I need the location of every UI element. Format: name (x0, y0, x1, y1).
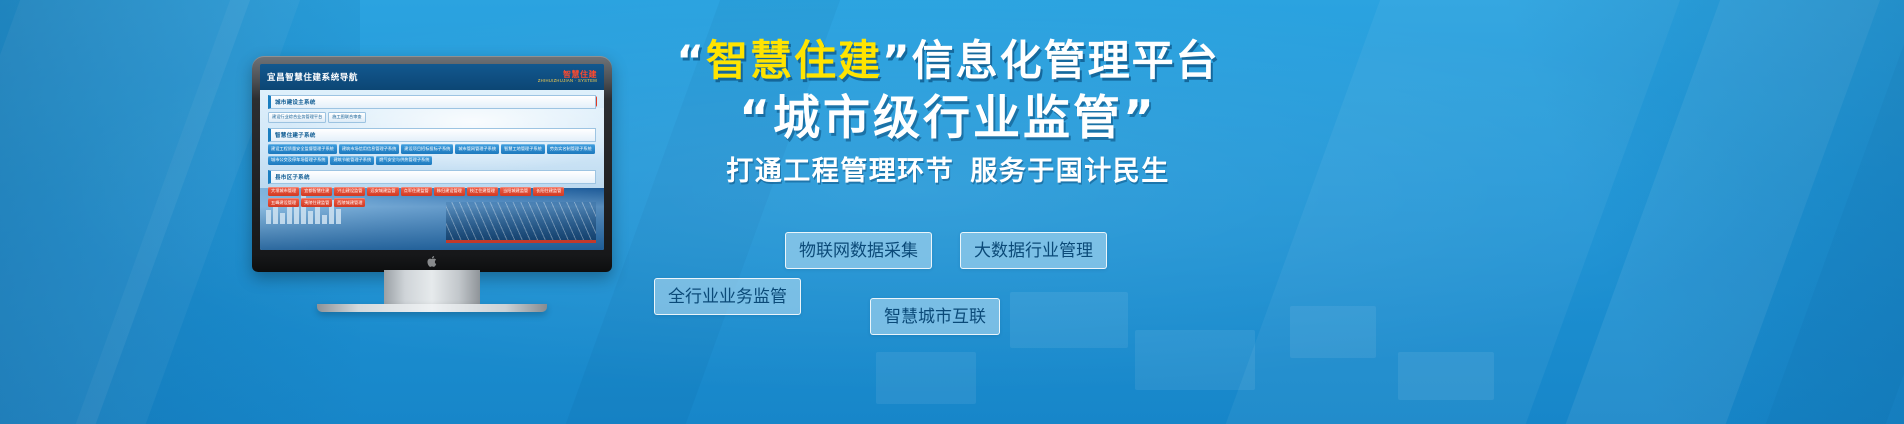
decorative-block (1290, 306, 1376, 358)
nav-chip[interactable]: 建筑市场信用信息管理子系统 (339, 144, 399, 153)
tag-bigdata-industry-management[interactable]: 大数据行业管理 (960, 232, 1107, 269)
monitor-chin (252, 250, 612, 272)
nav-chip[interactable]: 远安城建监管 (367, 187, 398, 196)
section-chip-list: 建设行业综合业务管理平台 施工图联合审查 (268, 112, 596, 123)
nav-chip[interactable]: 智慧工地管理子系统 (501, 144, 545, 153)
headline-line-1-rest: 信息化管理平台 (912, 36, 1220, 85)
tag-iot-data-collection[interactable]: 物联网数据采集 (785, 232, 932, 269)
monitor-stand-base (317, 304, 547, 312)
monitor-screen: 宜昌智慧住建系统导航 智慧住建 ZHIHUIZHUJIAN · SYSTEM (260, 64, 604, 250)
nav-chip[interactable]: 大坝城市管理 (268, 187, 299, 196)
nav-chip[interactable]: 西陵城建管理 (334, 198, 365, 207)
nav-chip[interactable]: 建设项目招标投标子系统 (401, 144, 453, 153)
monitor-bezel: 宜昌智慧住建系统导航 智慧住建 ZHIHUIZHUJIAN · SYSTEM (252, 56, 612, 272)
screen-section: 智慧住建子系统 建设工程质量安全监督管理子系统 建筑市场信用信息管理子系统 建设… (268, 128, 596, 165)
screen-section: 县市区子系统 大坝城市管理 宜都智慧住建 兴山建设监管 远安城建监管 点军住建监… (268, 170, 596, 207)
monitor-stand-neck (384, 270, 480, 306)
decorative-block (1398, 352, 1494, 400)
screen-body: 资料下载 城市建设主系统 建设行业综合业务管理平台 施工图联合审查 智慧住建子系… (260, 90, 604, 250)
screen-title: 宜昌智慧住建系统导航 (267, 71, 358, 83)
nav-chip[interactable]: 秭归建设管理 (434, 187, 465, 196)
apple-logo-icon (427, 255, 438, 268)
bridge-deck (446, 240, 596, 243)
decorative-block (876, 352, 976, 404)
nav-chip[interactable]: 城市管网管理子系统 (455, 144, 499, 153)
nav-chip[interactable]: 长阳住建监管 (533, 187, 564, 196)
nav-chip[interactable]: 城市公交及停车场管理子系统 (268, 156, 328, 165)
screen-logo-secondary: ZHIHUIZHUJIAN · SYSTEM (538, 79, 597, 83)
screen-header: 宜昌智慧住建系统导航 智慧住建 ZHIHUIZHUJIAN · SYSTEM (260, 64, 604, 90)
bridge-graphic (446, 202, 596, 242)
headline-line-2: “城市级行业监管” (648, 95, 1248, 142)
promo-banner: 宜昌智慧住建系统导航 智慧住建 ZHIHUIZHUJIAN · SYSTEM (0, 0, 1904, 424)
section-chip-list: 建设工程质量安全监督管理子系统 建筑市场信用信息管理子系统 建设项目招标投标子系… (268, 144, 596, 165)
section-heading: 县市区子系统 (268, 170, 596, 184)
imac-monitor-mockup: 宜昌智慧住建系统导航 智慧住建 ZHIHUIZHUJIAN · SYSTEM (252, 56, 612, 308)
screen-section: 城市建设主系统 建设行业综合业务管理平台 施工图联合审查 (268, 95, 596, 123)
feature-tag-group: 物联网数据采集 大数据行业管理 全行业业务监管 智慧城市互联 (640, 232, 1200, 352)
nav-chip[interactable]: 兴山建设监管 (334, 187, 365, 196)
nav-chip[interactable]: 夷陵住建监管 (301, 198, 332, 207)
nav-chip[interactable]: 建设行业综合业务管理平台 (268, 112, 326, 123)
tagline-part-1: 打通工程管理环节 (726, 156, 954, 187)
nav-chip[interactable]: 施工图联合审查 (328, 112, 365, 123)
headline-copy: “智慧住建”信息化管理平台 “城市级行业监管” 打通工程管理环节服务于国计民生 (648, 40, 1248, 185)
screen-logo: 智慧住建 ZHIHUIZHUJIAN · SYSTEM (538, 71, 597, 84)
nav-chip[interactable]: 点军住建监管 (401, 187, 432, 196)
section-chip-list: 大坝城市管理 宜都智慧住建 兴山建设监管 远安城建监管 点军住建监管 秭归建设管… (268, 187, 596, 208)
nav-chip[interactable]: 劳务实名制管理子系统 (547, 144, 595, 153)
nav-chip[interactable]: 燃气安全与供热管理子系统 (376, 156, 432, 165)
tag-smart-city-interconnect[interactable]: 智慧城市互联 (870, 298, 1000, 335)
headline-tagline: 打通工程管理环节服务于国计民生 (648, 158, 1248, 185)
section-heading: 智慧住建子系统 (268, 128, 596, 142)
tagline-part-2: 服务于国计民生 (970, 156, 1170, 187)
headline-quote-close: ” (882, 36, 912, 85)
headline-highlight: 智慧住建 (706, 36, 882, 85)
nav-chip[interactable]: 建筑节能管理子系统 (330, 156, 374, 165)
nav-chip[interactable]: 五峰建设管理 (268, 198, 299, 207)
nav-chip[interactable]: 当阳城建监管 (500, 187, 531, 196)
nav-chip[interactable]: 建设工程质量安全监督管理子系统 (268, 144, 337, 153)
nav-chip[interactable]: 枝江住建管理 (467, 187, 498, 196)
section-heading: 城市建设主系统 (268, 95, 596, 109)
tag-all-industry-supervision[interactable]: 全行业业务监管 (654, 278, 801, 315)
headline-quote-open: “ (676, 36, 706, 85)
headline-line-1: “智慧住建”信息化管理平台 (648, 40, 1248, 82)
nav-chip[interactable]: 宜都智慧住建 (301, 187, 332, 196)
